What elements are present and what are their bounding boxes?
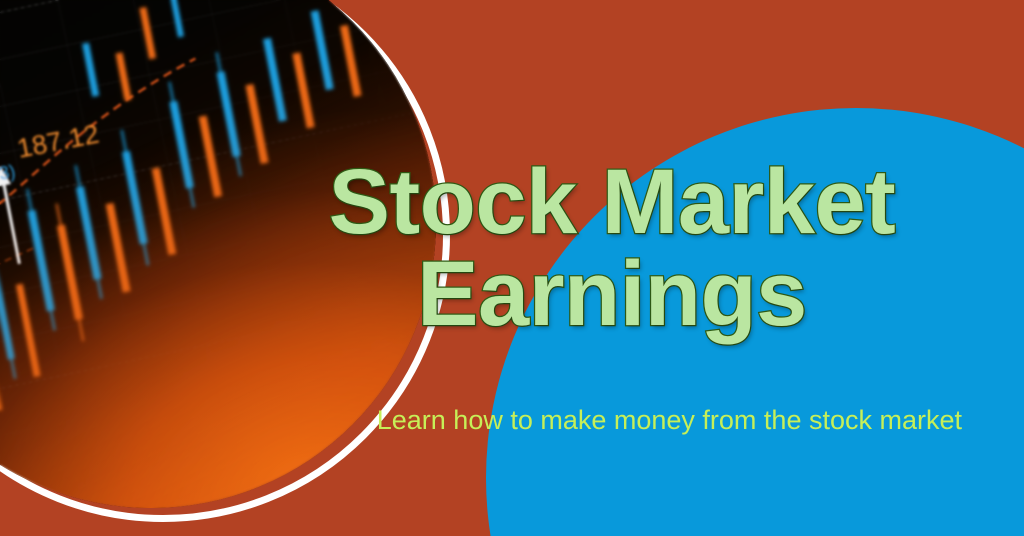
page-title: Stock Market Earnings [262, 156, 962, 340]
page-subtitle: Learn how to make money from the stock m… [262, 398, 962, 443]
poster-canvas: 187.12 (% + 0.3) Stock Market Earnings L… [0, 0, 1024, 536]
